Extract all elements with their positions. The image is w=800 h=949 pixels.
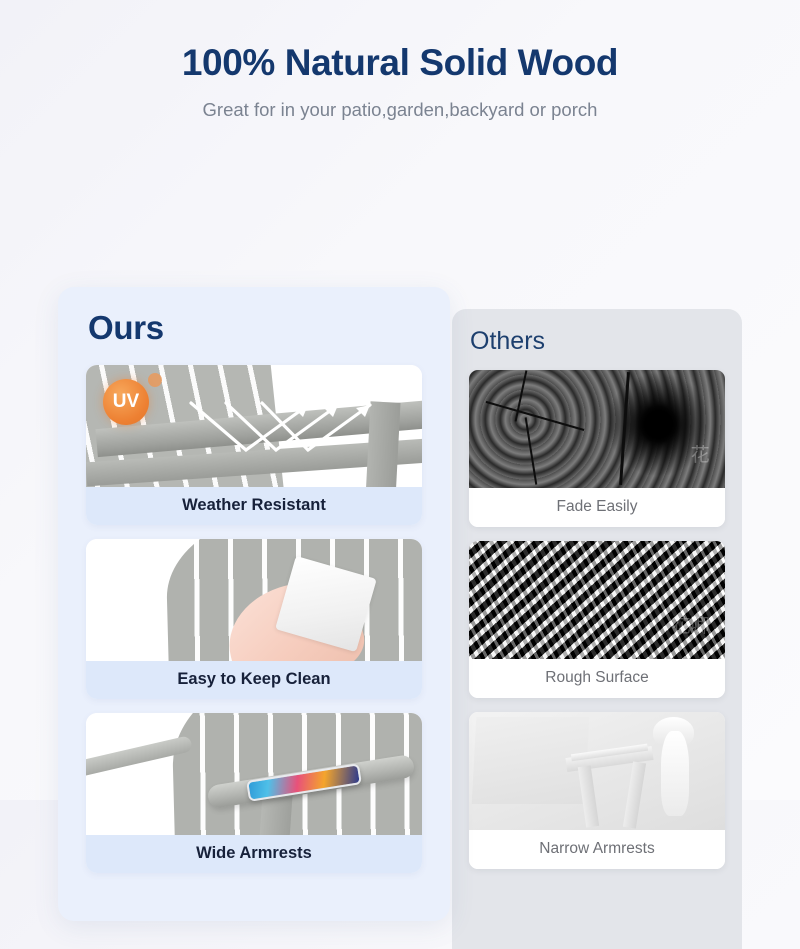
others-card-list: 花 Fade Easily 花卿 Rough Surface xyxy=(452,356,742,869)
others-caption: Fade Easily xyxy=(469,488,725,527)
ours-caption: Wide Armrests xyxy=(86,835,422,873)
others-card-narrow-armrests[interactable]: Narrow Armrests xyxy=(469,712,725,869)
others-photo-cracked-wood: 花 xyxy=(469,370,725,488)
others-photo-watermark: 花 xyxy=(691,440,710,467)
others-photo-watermark: 花卿 xyxy=(672,611,710,638)
ours-caption: Weather Resistant xyxy=(86,487,422,525)
page-subtitle: Great for in your patio,garden,backyard … xyxy=(0,99,800,121)
others-panel: Others 花 Fade Easily 花卿 Rough Sur xyxy=(452,309,742,949)
others-caption: Rough Surface xyxy=(469,659,725,698)
ours-card-weather-resistant[interactable]: UV Weather Resistant xyxy=(86,365,422,525)
ours-heading: Ours xyxy=(58,287,450,347)
uv-badge-icon: UV xyxy=(103,379,149,425)
ours-caption: Easy to Keep Clean xyxy=(86,661,422,699)
ours-photo-uv-protection: UV xyxy=(86,365,422,487)
others-photo-splintered-wood: 花卿 xyxy=(469,541,725,659)
ours-panel: Ours xyxy=(58,287,450,921)
ours-photo-wide-armrest xyxy=(86,713,422,835)
ours-card-wide-armrests[interactable]: Wide Armrests xyxy=(86,713,422,873)
ours-card-easy-to-keep-clean[interactable]: Easy to Keep Clean xyxy=(86,539,422,699)
others-heading: Others xyxy=(452,309,742,356)
others-caption: Narrow Armrests xyxy=(469,830,725,869)
comparison-section: Others 花 Fade Easily 花卿 Rough Sur xyxy=(0,121,800,761)
others-card-rough-surface[interactable]: 花卿 Rough Surface xyxy=(469,541,725,698)
ours-card-list: UV Weather Resistant Easy to Keep Clean xyxy=(58,347,450,873)
ours-photo-cleaning xyxy=(86,539,422,661)
others-card-fade-easily[interactable]: 花 Fade Easily xyxy=(469,370,725,527)
uv-accent-dot xyxy=(148,373,162,387)
page-title: 100% Natural Solid Wood xyxy=(0,42,800,84)
page-header: 100% Natural Solid Wood Great for in you… xyxy=(0,0,800,121)
others-photo-narrow-armrest xyxy=(469,712,725,830)
